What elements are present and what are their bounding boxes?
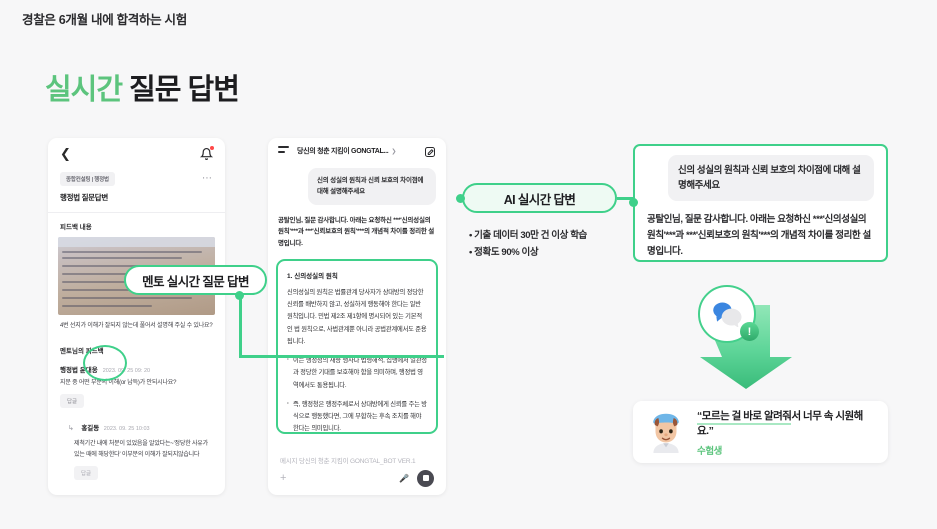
bell-icon[interactable] — [200, 147, 213, 161]
hamburger-icon[interactable] — [278, 146, 289, 155]
post-title: 행정법 질문답변 — [48, 186, 225, 203]
answer-connector-knob — [629, 198, 638, 207]
category-tag: 종합컨설팅 | 행정법 — [60, 172, 115, 186]
mento-connector-knob — [235, 291, 244, 300]
sub-reply-button[interactable]: 답글 — [74, 466, 98, 480]
exclamation-badge: ! — [740, 322, 759, 341]
user-message-bubble: 신의 성실의 원칙과 신뢰 보호의 차이점에 대해 설명해주세요 — [308, 168, 436, 205]
chat-title: 당신의 청춘 지킴이 GONGTAL... ❯ — [297, 146, 416, 156]
sub-comment-name: 홍길동 — [81, 425, 99, 432]
page-kicker: 경찰은 6개월 내에 합격하는 시험 — [22, 9, 187, 28]
mento-highlight-circle — [83, 345, 127, 381]
testimonial-text: “모르는 걸 바로 알려줘서 너무 속 시원해요.” 수험생 — [697, 408, 876, 457]
testimonial-role: 수험생 — [697, 443, 876, 457]
mentor-feedback-label: 멘토님의 피드백 — [48, 331, 225, 355]
question-text: 4번 선지가 이해가 잘되지 않는데 풀어서 설명해 주실 수 있나요? — [48, 315, 225, 331]
testimonial-quote: “모르는 걸 바로 알려줘서 너무 속 시원해요.” — [697, 408, 876, 438]
answer-heading: 1. 신의성실의 원칙 — [287, 270, 427, 280]
bot-answer-card: 1. 신의성실의 원칙 신의성실의 원칙은 법률관계 당사자가 상대방의 정당한… — [276, 259, 438, 434]
answer-paragraph: 신의성실의 원칙은 법률관계 당사자가 상대방의 정당한 신뢰를 배반하지 않고… — [287, 287, 427, 348]
testimonial-quote-underlined: “모르는 걸 바로 알려줘 — [697, 410, 791, 425]
sub-comment-meta-row: ↳ 홍길동 2023. 09. 25 10:03 — [48, 408, 225, 435]
feedback-section-label: 피드백 내용 — [48, 213, 225, 231]
message-input[interactable]: 메시지 당신의 청춘 지킴이 GONGTAL_BOT VER.1 — [268, 455, 446, 465]
back-chevron-icon[interactable]: ❮ — [60, 146, 71, 162]
microphone-icon[interactable]: 🎤 — [399, 474, 409, 483]
answer-user-bubble: 신의 성실의 원칙과 신뢰 보호의 차이점에 대해 설명해주세요 — [668, 155, 874, 201]
page-title: 실시간 질문 답변 — [45, 66, 239, 108]
student-avatar-icon — [645, 411, 687, 453]
mentor-body: 지문 중 어떤 부분의 이해(or 납득)가 안되시나요? — [48, 374, 225, 388]
bot-intro-text: 공탈인님, 질문 감사합니다. 아래는 요청하신 ***'신의성실의 원칙'**… — [278, 215, 436, 250]
reply-arrow-icon: ↳ — [68, 425, 74, 432]
page-title-accent: 실시간 — [45, 74, 122, 106]
answer-detail-box: 신의 성실의 원칙과 신뢰 보호의 차이점에 대해 설명해주세요 공탈인님, 질… — [633, 144, 888, 262]
sub-comment-body: 제척기간 내에 처분이 있었음을 알았다는~'정당한 사유가 있는 때에 해당한… — [48, 435, 225, 460]
callout-mento: 멘토 실시간 질문 답변 — [124, 265, 267, 295]
phone-mockup-left: ❮ 종합컨설팅 | 행정법 ⋯ 행정법 질문답변 피드백 내용 4번 선지가 이… — [48, 138, 225, 495]
reply-button[interactable]: 답글 — [60, 394, 84, 408]
answer-bullet: 이는 행정청의 재량 행사나 법령해석, 집행에서 일관성과 정당한 기대를 보… — [287, 355, 427, 392]
feature-bullet-item: 기출 데이터 30만 건 이상 학습 — [469, 228, 587, 245]
composer-toolbar: + 🎤 — [268, 467, 446, 489]
answer-bullet: 즉, 행정청은 행정주체로서 상대방에게 신뢰를 주는 방식으로 행동했다면, … — [287, 399, 427, 434]
stop-send-icon[interactable] — [417, 470, 434, 487]
feature-bullets: 기출 데이터 30만 건 이상 학습 정확도 90% 이상 — [469, 228, 587, 261]
mentor-meta-row: 행정법 윤대웅 2023. 09. 25 09: 20 — [48, 355, 225, 374]
notification-dot — [210, 146, 214, 150]
chevron-right-icon[interactable]: ❯ — [391, 148, 396, 155]
phone-mockup-middle: 당신의 청춘 지킴이 GONGTAL... ❯ 신의 성실의 원칙과 신뢰 보호… — [268, 138, 446, 495]
callout-ai: AI 실시간 답변 — [462, 183, 617, 213]
more-dots-icon[interactable]: ⋯ — [202, 176, 213, 182]
feature-bullet-item: 정확도 90% 이상 — [469, 245, 587, 262]
mento-connector-horizontal — [239, 355, 444, 358]
pencil-edit-icon[interactable] — [424, 145, 436, 157]
testimonial-card: “모르는 걸 바로 알려줘서 너무 속 시원해요.” 수험생 — [633, 401, 888, 463]
mento-connector-vertical — [239, 293, 242, 357]
sub-comment-date: 2023. 09. 25 10:03 — [104, 426, 150, 432]
left-phone-tag-row: 종합컨설팅 | 행정법 ⋯ — [48, 170, 225, 186]
ai-connector-knob-left — [456, 194, 465, 203]
mid-phone-topbar: 당신의 청춘 지킴이 GONGTAL... ❯ — [268, 138, 446, 164]
answer-bot-text: 공탈인님, 질문 감사합니다. 아래는 요청하신 ***'신의성실의 원칙'**… — [647, 212, 874, 259]
chat-title-text: 당신의 청춘 지킴이 GONGTAL... — [297, 146, 388, 156]
flow-arrow: ! — [696, 285, 811, 390]
plus-icon[interactable]: + — [280, 472, 286, 484]
page-title-rest: 질문 답변 — [122, 74, 239, 106]
left-phone-topbar: ❮ — [48, 138, 225, 170]
